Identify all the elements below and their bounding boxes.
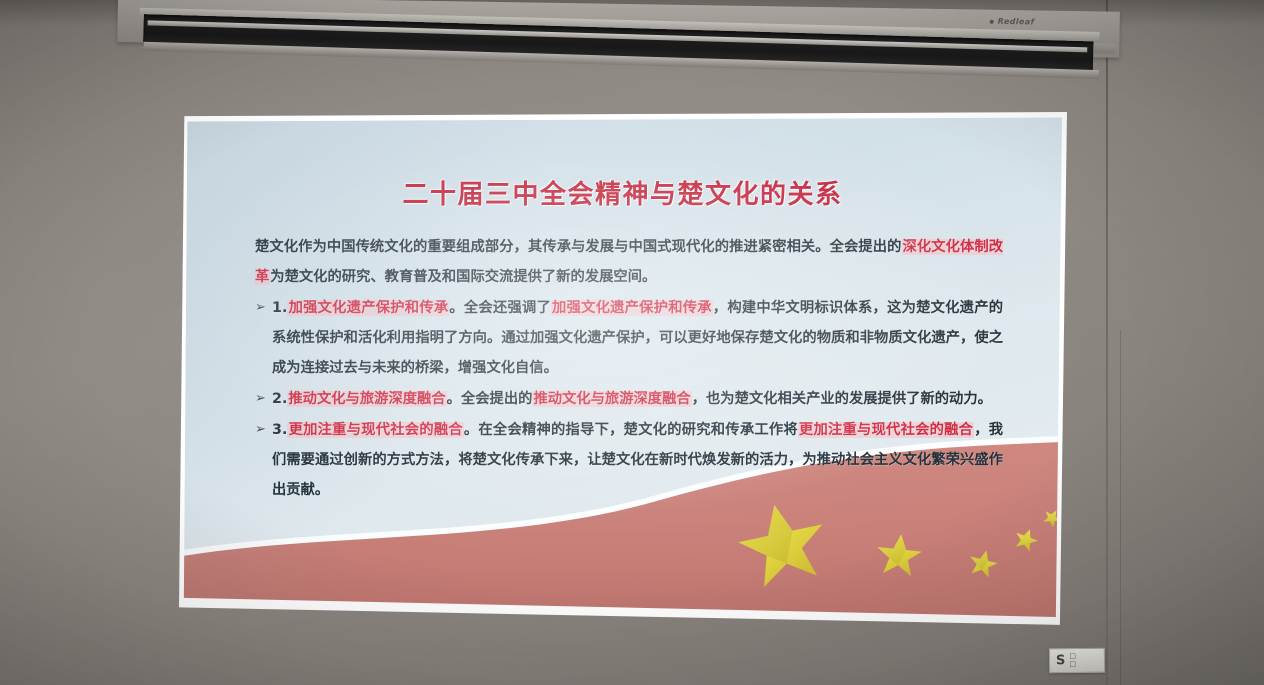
screenshot-root: Redleaf — [0, 0, 1264, 685]
slide-body: 楚文化作为中国传统文化的重要组成部分，其传承与发展与中国式现代化的推进紧密相关。… — [255, 232, 1003, 506]
body-text-run: 。在全会精神的指导下，楚文化的研究和传承工作将 — [464, 422, 798, 438]
wall-sign-subline-2: □ — [1069, 661, 1075, 668]
slide-surface: 二十届三中全会精神与楚文化的关系 楚文化作为中国传统文化的重要组成部分，其传承与… — [183, 116, 1062, 620]
bullet-text: 3.更加注重与现代社会的融合。在全会精神的指导下，楚文化的研究和传承工作将更加注… — [272, 415, 1003, 505]
wall-sign-glyph: S — [1056, 654, 1066, 667]
body-text-run: 为楚文化的研究、教育普及和国际交流提供了新的发展空间。 — [270, 269, 656, 285]
wall-seam-line-secondary — [1120, 330, 1121, 685]
highlighted-phrase: 更加注重与现代社会的融合 — [798, 422, 974, 438]
highlighted-phrase: 推动文化与旅游深度融合 — [287, 391, 446, 407]
body-text-run: 。全会还强调了 — [449, 300, 551, 316]
highlighted-phrase: 加强文化遗产保护和传承 — [551, 300, 713, 316]
case-brand-label: Redleaf — [998, 17, 1035, 27]
wall-seam-line — [1106, 0, 1108, 685]
body-text-run: 。全会提出的 — [447, 391, 533, 407]
case-end-cap — [1093, 43, 1115, 54]
slide-content: 二十届三中全会精神与楚文化的关系 楚文化作为中国传统文化的重要组成部分，其传承与… — [183, 116, 1062, 620]
bullet-text: 1.加强文化遗产保护和传承。全会还强调了加强文化遗产保护和传承，构建中华文明标识… — [272, 293, 1003, 383]
body-text-run: ，也为楚文化相关产业的发展提供了新的动力。 — [692, 391, 992, 407]
bullet-arrow-icon: ➢ — [255, 293, 272, 323]
highlighted-phrase: 更加注重与现代社会的融合 — [287, 422, 464, 438]
slide-paragraph-list: 楚文化作为中国传统文化的重要组成部分，其传承与发展与中国式现代化的推进紧密相关。… — [255, 232, 1003, 292]
bullet-number: 1. — [272, 300, 287, 316]
highlighted-phrase: 加强文化遗产保护和传承 — [287, 300, 449, 316]
slide-bullet-item-1: ➢1.加强文化遗产保护和传承。全会还强调了加强文化遗产保护和传承，构建中华文明标… — [255, 293, 1003, 383]
projection-screen: 二十届三中全会精神与楚文化的关系 楚文化作为中国传统文化的重要组成部分，其传承与… — [179, 111, 1067, 627]
bullet-arrow-icon: ➢ — [255, 415, 272, 445]
highlighted-phrase: 推动文化与旅游深度融合 — [532, 391, 691, 407]
slide-bullet-list: ➢1.加强文化遗产保护和传承。全会还强调了加强文化遗产保护和传承，构建中华文明标… — [255, 293, 1003, 505]
bullet-number: 3. — [272, 422, 287, 438]
slide-bullet-item-2: ➢2.推动文化与旅游深度融合。全会提出的推动文化与旅游深度融合，也为楚文化相关产… — [255, 384, 1003, 414]
slide-bullet-item-3: ➢3.更加注重与现代社会的融合。在全会精神的指导下，楚文化的研究和传承工作将更加… — [255, 415, 1003, 505]
bullet-number: 2. — [272, 391, 287, 407]
bullet-arrow-icon: ➢ — [255, 384, 272, 414]
slide-title: 二十届三中全会精神与楚文化的关系 — [183, 174, 1062, 211]
body-text-run: 楚文化作为中国传统文化的重要组成部分，其传承与发展与中国式现代化的推进紧密相关。… — [255, 239, 902, 255]
bullet-text: 2.推动文化与旅游深度融合。全会提出的推动文化与旅游深度融合，也为楚文化相关产业… — [272, 384, 1003, 414]
wall-sign: S □ □ — [1049, 648, 1105, 674]
slide-paragraph: 楚文化作为中国传统文化的重要组成部分，其传承与发展与中国式现代化的推进紧密相关。… — [255, 232, 1003, 292]
brand-dot-icon — [990, 20, 994, 24]
